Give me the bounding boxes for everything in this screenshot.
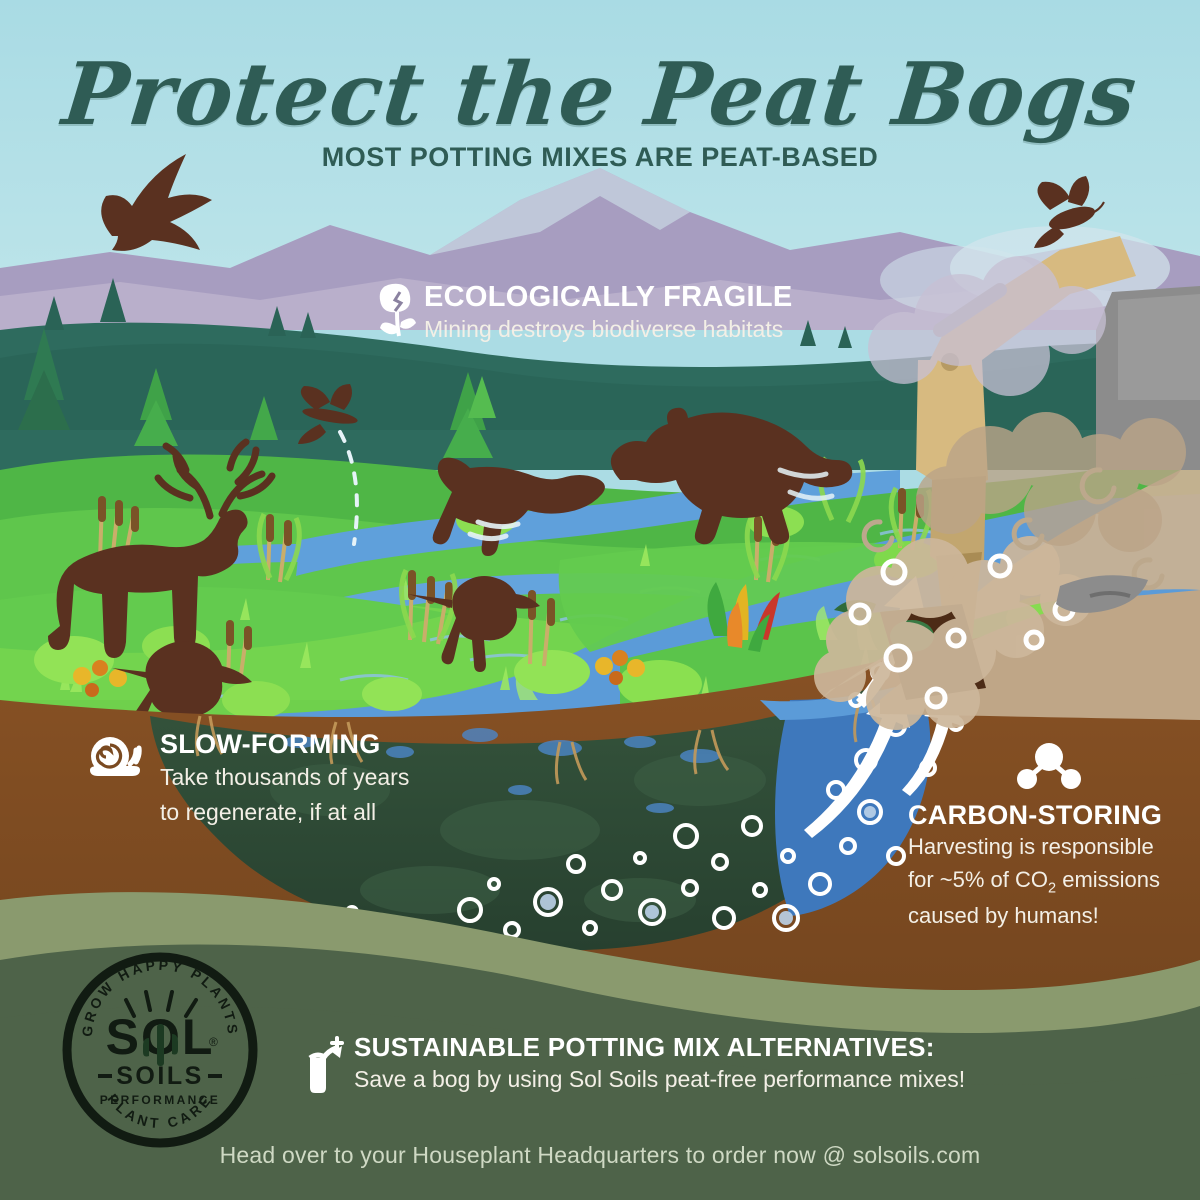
co2-subscript: 2 bbox=[1048, 880, 1056, 896]
scene-illustration: GROW HAPPY PLANTS PLANT CARE SOL ® bbox=[0, 0, 1200, 1200]
callout-line: Take thousands of years bbox=[160, 763, 428, 793]
snail-icon bbox=[88, 734, 148, 783]
callout-line: caused by humans! bbox=[908, 902, 1188, 931]
excavator-cab-window bbox=[1118, 294, 1200, 400]
potted-sprout-arrow-icon bbox=[306, 1036, 348, 1099]
footer-cta: Head over to your Houseplant Headquarter… bbox=[0, 1142, 1200, 1169]
callout-heading: SLOW-FORMING bbox=[160, 730, 428, 758]
callout-sustainable-alternatives: SUSTAINABLE POTTING MIX ALTERNATIVES: Sa… bbox=[306, 1034, 986, 1095]
page-subtitle: MOST POTTING MIXES ARE PEAT-BASED bbox=[0, 142, 1200, 173]
co2-molecule-icon bbox=[1014, 742, 1188, 797]
sprout-leaf-icon bbox=[378, 282, 418, 343]
co2-line-prefix: for ~5% of CO bbox=[908, 867, 1048, 892]
callout-slow-forming: SLOW-FORMING Take thousands of years to … bbox=[88, 730, 428, 828]
callout-line: Mining destroys biodiverse habitats bbox=[424, 315, 848, 345]
callout-line: to regenerate, if at all bbox=[160, 798, 428, 828]
callout-line: Harvesting is responsible bbox=[908, 833, 1188, 862]
infographic-poster: GROW HAPPY PLANTS PLANT CARE SOL ® bbox=[0, 0, 1200, 1200]
co2-line-suffix: emissions bbox=[1056, 867, 1160, 892]
callout-carbon-storing: CARBON-STORING Harvesting is responsible… bbox=[908, 742, 1188, 931]
logo-line3: PERFORMANCE bbox=[100, 1093, 220, 1107]
callout-heading: ECOLOGICALLY FRAGILE bbox=[424, 282, 848, 312]
callout-heading: SUSTAINABLE POTTING MIX ALTERNATIVES: bbox=[354, 1034, 986, 1061]
callout-heading: CARBON-STORING bbox=[908, 801, 1188, 829]
callout-ecologically-fragile: ECOLOGICALLY FRAGILE Mining destroys bio… bbox=[378, 282, 848, 345]
logo-line2: SOILS bbox=[116, 1062, 204, 1090]
callout-line: Save a bog by using Sol Soils peat-free … bbox=[354, 1065, 986, 1095]
page-title: Protect the Peat Bogs bbox=[0, 44, 1200, 145]
logo-registered: ® bbox=[209, 1035, 218, 1049]
callout-line-co2: for ~5% of CO2 emissions bbox=[908, 866, 1188, 898]
